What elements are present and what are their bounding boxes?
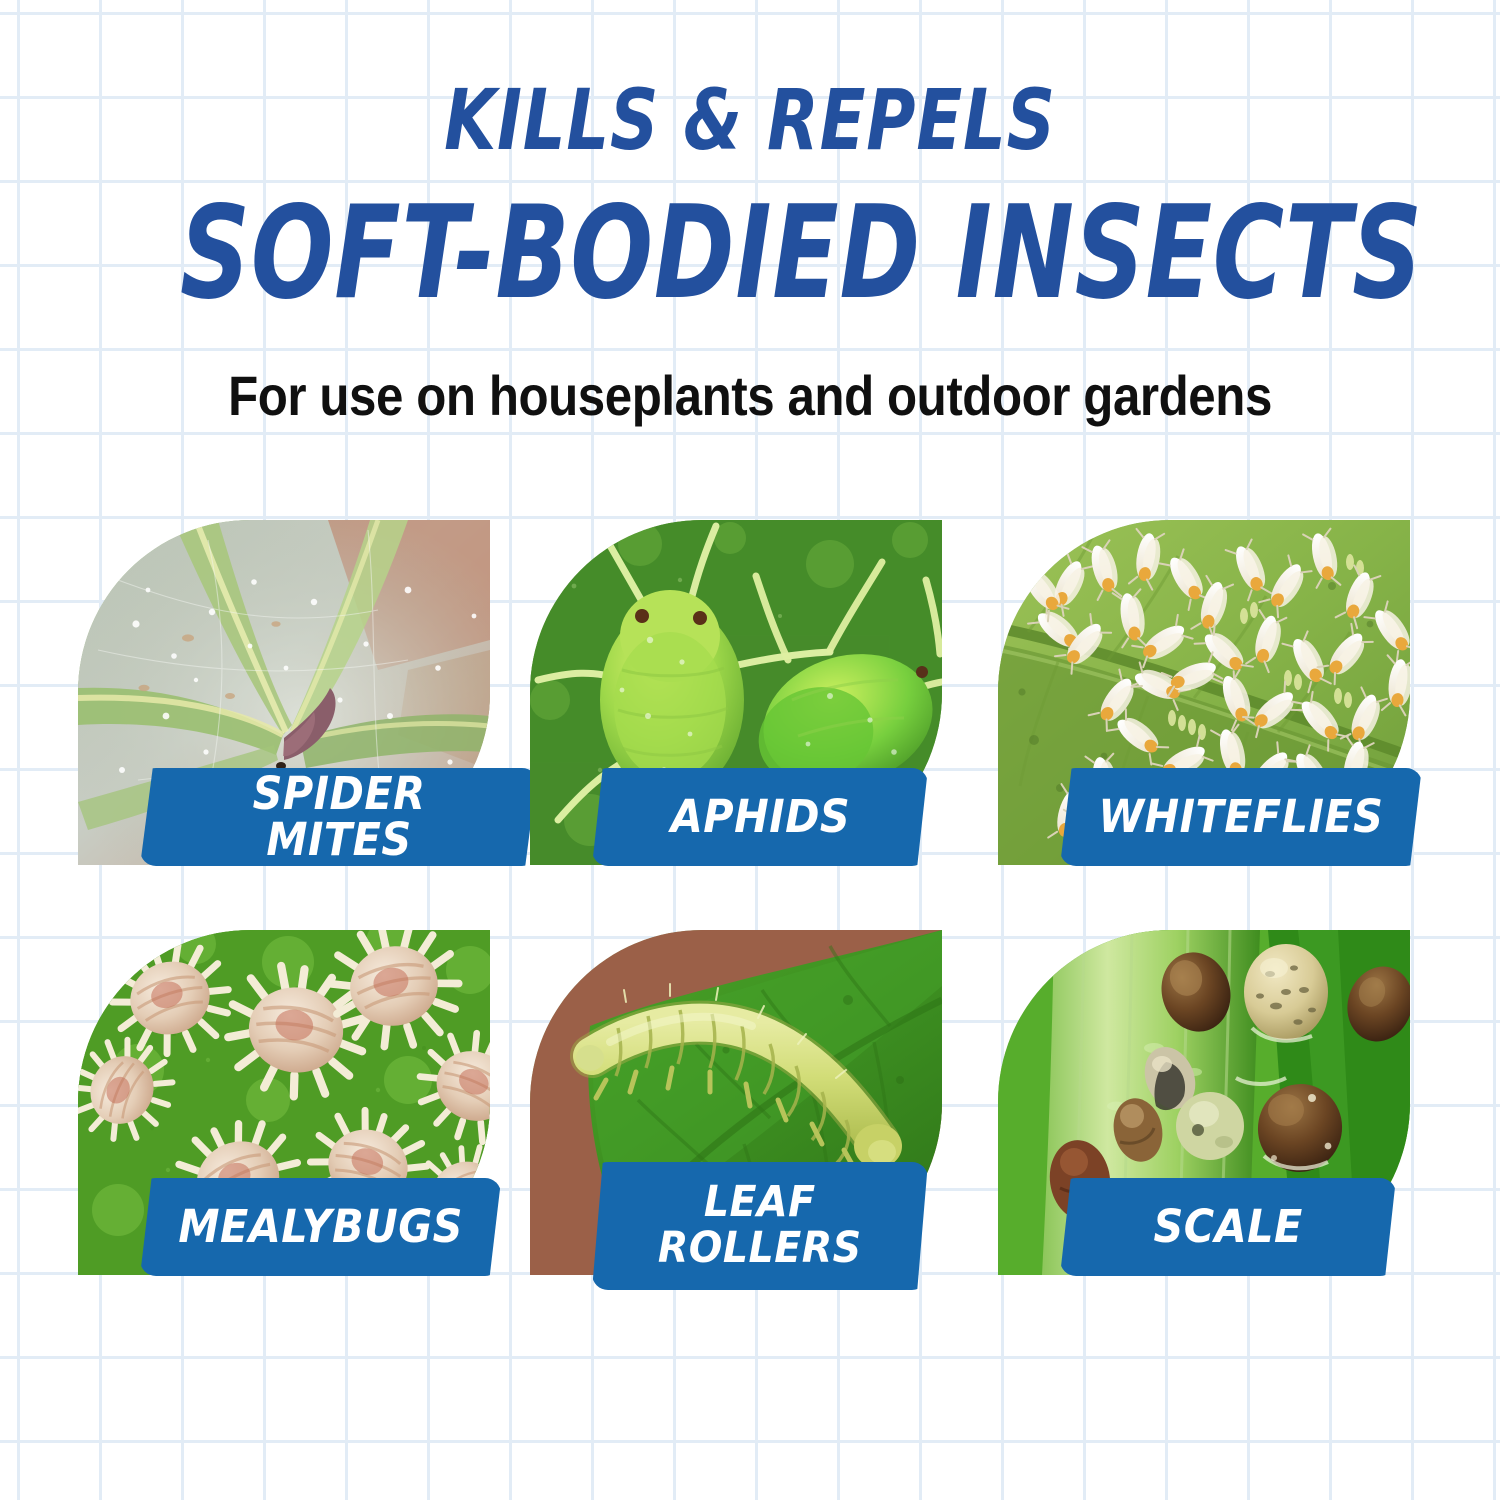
- page-title: SOFT-BODIED INSECTS: [180, 190, 1320, 318]
- pest-card-spider-mites[interactable]: SPIDER MITES: [78, 520, 538, 920]
- pest-label-badge[interactable]: APHIDS: [592, 768, 928, 866]
- pest-label-text: MEALYBUGS: [178, 1204, 463, 1250]
- subheading: For use on houseplants and outdoor garde…: [90, 368, 1410, 424]
- pest-label-text: APHIDS: [670, 794, 849, 840]
- kicker-heading: KILLS & REPELS: [150, 78, 1350, 162]
- pest-label-badge[interactable]: SPIDER MITES: [140, 768, 538, 866]
- pest-label-badge[interactable]: MEALYBUGS: [140, 1178, 501, 1276]
- pest-card-whiteflies[interactable]: WHITEFLIES: [998, 520, 1458, 920]
- pest-card-leaf-rollers[interactable]: LEAF ROLLERS: [530, 930, 990, 1330]
- pest-card-scale[interactable]: SCALE: [998, 930, 1458, 1330]
- pest-card-mealybugs[interactable]: MEALYBUGS: [78, 930, 538, 1330]
- pest-card-aphids[interactable]: APHIDS: [530, 520, 990, 920]
- pest-label-text: LEAF ROLLERS: [658, 1180, 862, 1271]
- pest-label-text: SPIDER MITES: [180, 771, 498, 863]
- pest-label-text: SCALE: [1153, 1204, 1302, 1250]
- infographic-page: KILLS & REPELS SOFT-BODIED INSECTS For u…: [0, 0, 1500, 1500]
- pest-label-badge[interactable]: SCALE: [1060, 1178, 1396, 1276]
- pest-label-text: WHITEFLIES: [1098, 794, 1383, 840]
- pest-label-badge[interactable]: WHITEFLIES: [1060, 768, 1422, 866]
- pest-grid: SPIDER MITES: [78, 520, 1428, 1320]
- pest-label-badge[interactable]: LEAF ROLLERS: [592, 1162, 928, 1290]
